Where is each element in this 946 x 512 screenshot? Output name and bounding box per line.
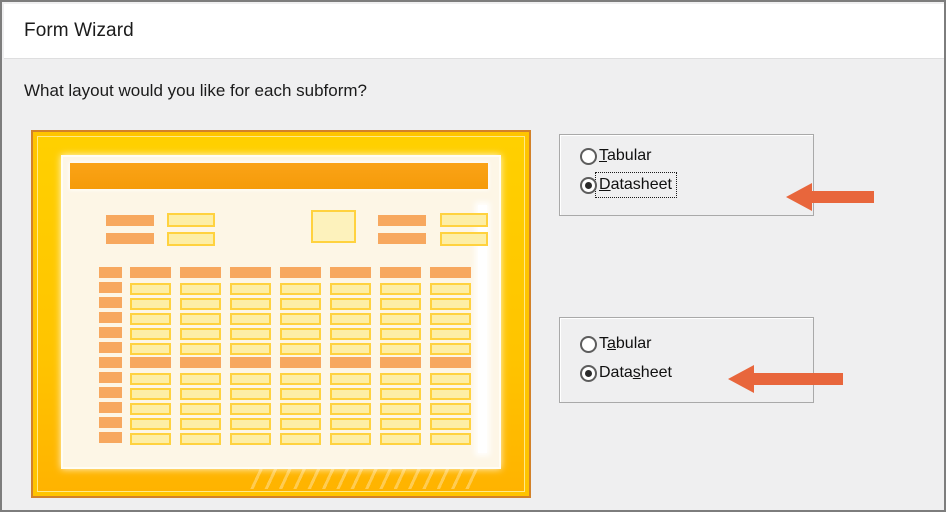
radio-label-datasheet-2: Datasheet bbox=[598, 363, 674, 383]
preview-col-header bbox=[180, 357, 221, 368]
preview-cell bbox=[330, 343, 371, 355]
preview-cell bbox=[280, 283, 321, 295]
preview-widget-0 bbox=[106, 215, 154, 226]
preview-cell bbox=[180, 283, 221, 295]
radio-option-tabular-2[interactable]: Tabular bbox=[580, 332, 653, 356]
preview-row-marker bbox=[99, 372, 122, 383]
subform-layout-preview bbox=[31, 130, 531, 498]
preview-cell bbox=[330, 283, 371, 295]
preview-widget-4 bbox=[311, 210, 356, 243]
arrow-shaft bbox=[754, 373, 843, 385]
preview-cell bbox=[230, 373, 271, 385]
preview-cell bbox=[130, 403, 171, 415]
radio-option-tabular-1[interactable]: Tabular bbox=[580, 144, 653, 168]
preview-cell bbox=[130, 313, 171, 325]
preview-cell bbox=[130, 418, 171, 430]
wizard-prompt-text: What layout would you like for each subf… bbox=[24, 81, 367, 101]
preview-cell bbox=[130, 433, 171, 445]
preview-cell bbox=[230, 403, 271, 415]
preview-cell bbox=[180, 343, 221, 355]
preview-cell bbox=[130, 283, 171, 295]
preview-widget-3 bbox=[167, 232, 215, 246]
preview-row-marker bbox=[99, 282, 122, 293]
radio-icon-datasheet-1[interactable] bbox=[580, 177, 597, 194]
preview-cell bbox=[330, 418, 371, 430]
preview-cell bbox=[430, 373, 471, 385]
preview-cell bbox=[280, 433, 321, 445]
preview-cell bbox=[430, 403, 471, 415]
form-wizard-window: Form Wizard What layout would you like f… bbox=[0, 0, 946, 512]
preview-cell bbox=[180, 433, 221, 445]
preview-col-header bbox=[280, 357, 321, 368]
preview-cell bbox=[230, 313, 271, 325]
preview-row-marker bbox=[99, 342, 122, 353]
preview-cell bbox=[180, 328, 221, 340]
preview-col-header bbox=[130, 357, 171, 368]
preview-cell bbox=[130, 388, 171, 400]
preview-outer-band bbox=[37, 136, 525, 492]
radio-label-tabular-2: Tabular bbox=[598, 334, 653, 354]
preview-cell bbox=[430, 433, 471, 445]
preview-row-marker bbox=[99, 402, 122, 413]
preview-cell bbox=[330, 373, 371, 385]
preview-cell bbox=[330, 433, 371, 445]
radio-icon-tabular-1[interactable] bbox=[580, 148, 597, 165]
preview-widget-6 bbox=[378, 233, 426, 244]
preview-col-header bbox=[230, 357, 271, 368]
preview-cell bbox=[330, 388, 371, 400]
preview-cell bbox=[180, 373, 221, 385]
preview-cell bbox=[330, 298, 371, 310]
preview-cell bbox=[380, 343, 421, 355]
preview-cell bbox=[380, 403, 421, 415]
preview-col-header bbox=[180, 267, 221, 278]
preview-cell bbox=[330, 313, 371, 325]
preview-cell bbox=[430, 418, 471, 430]
preview-row-marker bbox=[99, 297, 122, 308]
preview-col-header bbox=[380, 357, 421, 368]
preview-cell bbox=[130, 328, 171, 340]
preview-cell bbox=[380, 283, 421, 295]
preview-cell bbox=[380, 418, 421, 430]
preview-col-header bbox=[130, 267, 171, 278]
preview-row-marker bbox=[99, 327, 122, 338]
preview-cell bbox=[180, 418, 221, 430]
preview-cell bbox=[230, 433, 271, 445]
preview-cell bbox=[230, 388, 271, 400]
preview-cell bbox=[130, 343, 171, 355]
preview-cell bbox=[230, 283, 271, 295]
preview-cell bbox=[180, 388, 221, 400]
arrow-shaft bbox=[812, 191, 874, 203]
preview-cell bbox=[430, 343, 471, 355]
radio-icon-tabular-2[interactable] bbox=[580, 336, 597, 353]
preview-widget-1 bbox=[106, 233, 154, 244]
subform-layout-group-2: Tabular Datasheet bbox=[559, 317, 814, 403]
preview-cell bbox=[380, 298, 421, 310]
preview-row-marker bbox=[99, 417, 122, 428]
radio-label-datasheet-1: Datasheet bbox=[598, 175, 674, 195]
preview-col-header bbox=[330, 267, 371, 278]
callout-arrow-2 bbox=[728, 373, 843, 385]
preview-cell bbox=[380, 388, 421, 400]
arrow-head-icon bbox=[728, 365, 754, 393]
preview-cell bbox=[280, 328, 321, 340]
preview-cell bbox=[230, 418, 271, 430]
radio-option-datasheet-1[interactable]: Datasheet bbox=[580, 173, 674, 197]
preview-widget-2 bbox=[167, 213, 215, 227]
preview-col-header bbox=[430, 357, 471, 368]
preview-cell bbox=[280, 403, 321, 415]
preview-widget-7 bbox=[440, 213, 488, 227]
preview-cell bbox=[180, 313, 221, 325]
preview-cell bbox=[280, 343, 321, 355]
preview-row-marker bbox=[99, 267, 122, 278]
preview-cell bbox=[380, 433, 421, 445]
preview-cell bbox=[330, 328, 371, 340]
preview-col-header bbox=[380, 267, 421, 278]
preview-row-marker bbox=[99, 387, 122, 398]
preview-cell bbox=[130, 373, 171, 385]
preview-cell bbox=[380, 373, 421, 385]
preview-col-header bbox=[230, 267, 271, 278]
arrow-head-icon bbox=[786, 183, 812, 211]
preview-cell bbox=[230, 328, 271, 340]
radio-option-datasheet-2[interactable]: Datasheet bbox=[580, 361, 674, 385]
preview-cell bbox=[330, 403, 371, 415]
preview-cell bbox=[280, 418, 321, 430]
preview-cell bbox=[180, 403, 221, 415]
preview-cell bbox=[430, 388, 471, 400]
preview-cell bbox=[430, 313, 471, 325]
preview-cell bbox=[130, 298, 171, 310]
preview-cell bbox=[280, 298, 321, 310]
preview-cell bbox=[230, 298, 271, 310]
preview-cell bbox=[380, 328, 421, 340]
preview-cell bbox=[430, 328, 471, 340]
window-titlebar: Form Wizard bbox=[4, 4, 946, 59]
radio-icon-datasheet-2[interactable] bbox=[580, 365, 597, 382]
preview-row-marker bbox=[99, 432, 122, 443]
preview-widget-5 bbox=[378, 215, 426, 226]
preview-header-bar bbox=[70, 163, 488, 189]
preview-cell bbox=[280, 313, 321, 325]
preview-col-header bbox=[330, 357, 371, 368]
preview-paper bbox=[63, 157, 499, 467]
radio-label-tabular-1: Tabular bbox=[598, 146, 653, 166]
preview-col-header bbox=[280, 267, 321, 278]
preview-col-header bbox=[430, 267, 471, 278]
preview-cell bbox=[280, 373, 321, 385]
preview-row-marker bbox=[99, 357, 122, 368]
preview-cell bbox=[230, 343, 271, 355]
subform-layout-group-1: Tabular Datasheet bbox=[559, 134, 814, 216]
preview-cell bbox=[180, 298, 221, 310]
preview-widget-8 bbox=[440, 232, 488, 246]
preview-row-marker bbox=[99, 312, 122, 323]
callout-arrow-1 bbox=[786, 191, 874, 203]
preview-cell bbox=[430, 283, 471, 295]
preview-cell bbox=[430, 298, 471, 310]
window-title: Form Wizard bbox=[24, 20, 134, 42]
preview-cell bbox=[280, 388, 321, 400]
preview-cell bbox=[380, 313, 421, 325]
